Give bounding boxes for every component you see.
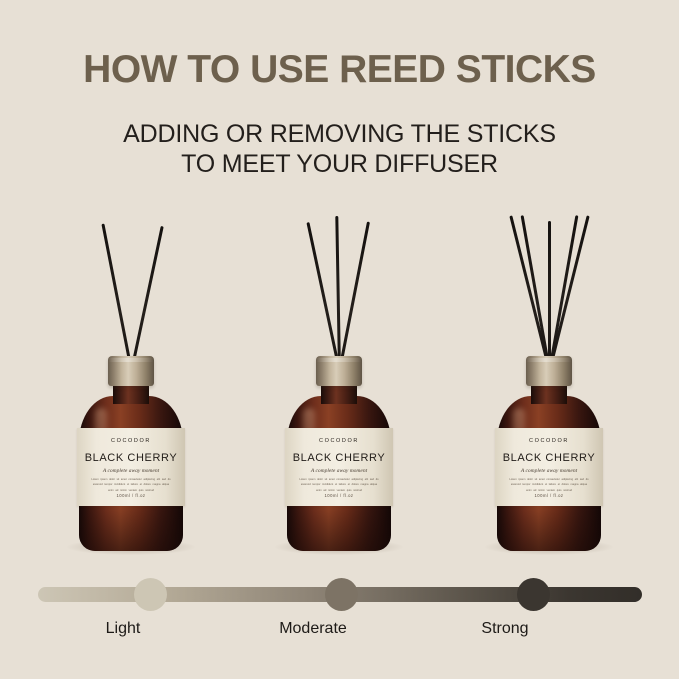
- label-brand: COCODOR: [77, 438, 185, 444]
- label-body-text: Lorem ipsum dolor sit amet consectetur a…: [91, 477, 171, 493]
- reed-sticks-group-light: [26, 196, 236, 371]
- label-body-text: Lorem ipsum dolor sit amet consectetur a…: [509, 477, 589, 493]
- reed-sticks-group-moderate: [234, 196, 444, 371]
- intensity-marker-strong: [517, 578, 550, 611]
- subtitle-line-1: ADDING OR REMOVING THE STICKS: [0, 120, 679, 150]
- label-volume: 100ml / fl.oz: [77, 493, 185, 498]
- intensity-scale: [38, 578, 642, 612]
- intensity-scale-labels: Light Moderate Strong: [0, 620, 679, 646]
- label-brand: COCODOR: [285, 438, 393, 444]
- label-product-name: BLACK CHERRY: [495, 452, 603, 464]
- bottle-label: COCODOR BLACK CHERRY A complete away mom…: [77, 428, 185, 506]
- label-body-text: Lorem ipsum dolor sit amet consectetur a…: [299, 477, 379, 493]
- diffuser-bottle-moderate: COCODOR BLACK CHERRY A complete away mom…: [234, 196, 444, 556]
- label-product-name: BLACK CHERRY: [285, 452, 393, 464]
- intensity-label-moderate: Moderate: [233, 620, 393, 638]
- page-title: HOW TO USE REED STICKS: [0, 50, 679, 91]
- bottle-label: COCODOR BLACK CHERRY A complete away mom…: [285, 428, 393, 506]
- label-volume: 100ml / fl.oz: [285, 493, 393, 498]
- reed-stick: [521, 215, 551, 371]
- diffuser-bottle-light: COCODOR BLACK CHERRY A complete away mom…: [26, 196, 236, 556]
- bottle-collar: [316, 356, 362, 386]
- label-tagline: A complete away moment: [77, 468, 185, 474]
- intensity-label-strong: Strong: [425, 620, 585, 638]
- intensity-marker-moderate: [325, 578, 358, 611]
- page-subtitle: ADDING OR REMOVING THE STICKS TO MEET YO…: [0, 120, 679, 179]
- reed-stick: [548, 221, 551, 371]
- reed-stick: [130, 226, 164, 371]
- subtitle-line-2: TO MEET YOUR DIFFUSER: [0, 150, 679, 180]
- bottle-collar: [526, 356, 572, 386]
- label-brand: COCODOR: [495, 438, 603, 444]
- reed-stick: [548, 215, 590, 371]
- label-product-name: BLACK CHERRY: [77, 452, 185, 464]
- bottle-label: COCODOR BLACK CHERRY A complete away mom…: [495, 428, 603, 506]
- reed-stick: [338, 222, 370, 372]
- intensity-marker-light: [134, 578, 167, 611]
- reed-sticks-group-strong: [444, 196, 654, 371]
- label-tagline: A complete away moment: [495, 468, 603, 474]
- reed-stick: [101, 223, 133, 371]
- label-tagline: A complete away moment: [285, 468, 393, 474]
- bottle-collar: [108, 356, 154, 386]
- intensity-label-light: Light: [43, 620, 203, 638]
- infographic-poster: HOW TO USE REED STICKS ADDING OR REMOVIN…: [0, 0, 679, 679]
- diffuser-bottle-strong: COCODOR BLACK CHERRY A complete away mom…: [444, 196, 654, 556]
- bottle-scene: COCODOR BLACK CHERRY A complete away mom…: [0, 196, 679, 556]
- label-volume: 100ml / fl.oz: [495, 493, 603, 498]
